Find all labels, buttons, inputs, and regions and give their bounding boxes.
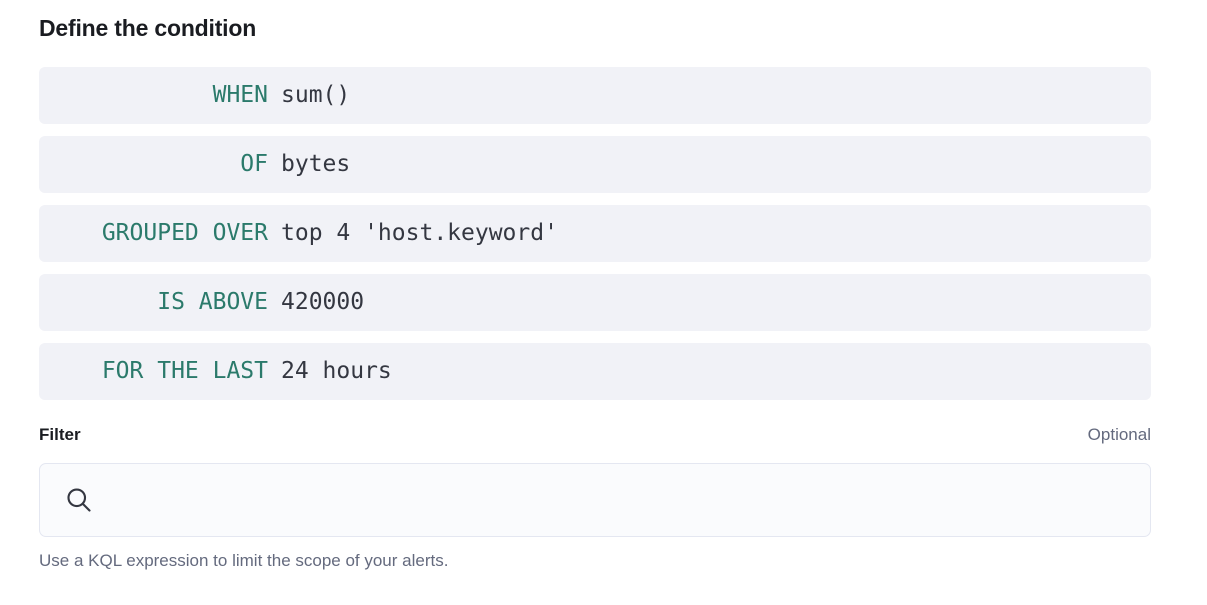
condition-row-is-above[interactable]: IS ABOVE 420000 xyxy=(39,274,1151,331)
filter-help-text: Use a KQL expression to limit the scope … xyxy=(39,549,1151,573)
condition-value-time-window[interactable]: 24 hours xyxy=(268,343,392,400)
condition-keyword: IS ABOVE xyxy=(39,274,268,331)
condition-row-when[interactable]: WHEN sum() xyxy=(39,67,1151,124)
condition-keyword: FOR THE LAST xyxy=(39,343,268,400)
filter-input[interactable] xyxy=(94,480,1136,520)
condition-value-group-by[interactable]: top 4 'host.keyword' xyxy=(268,205,558,262)
condition-value-field[interactable]: bytes xyxy=(268,136,350,193)
condition-value-aggregation[interactable]: sum() xyxy=(268,67,350,124)
filter-input-container[interactable] xyxy=(39,463,1151,537)
condition-keyword: GROUPED OVER xyxy=(39,205,268,262)
condition-row-for-the-last[interactable]: FOR THE LAST 24 hours xyxy=(39,343,1151,400)
filter-label-row: Filter Optional xyxy=(39,424,1151,446)
condition-expression-list: WHEN sum() OF bytes GROUPED OVER top 4 '… xyxy=(39,67,1151,400)
filter-block: Filter Optional Use a KQL expression to … xyxy=(39,424,1151,573)
condition-keyword: WHEN xyxy=(39,67,268,124)
search-icon xyxy=(64,485,94,515)
condition-value-threshold[interactable]: 420000 xyxy=(268,274,364,331)
condition-row-grouped-over[interactable]: GROUPED OVER top 4 'host.keyword' xyxy=(39,205,1151,262)
page-title: Define the condition xyxy=(39,0,1151,43)
filter-label: Filter xyxy=(39,424,81,446)
condition-row-of[interactable]: OF bytes xyxy=(39,136,1151,193)
filter-optional-badge: Optional xyxy=(1088,424,1151,446)
condition-keyword: OF xyxy=(39,136,268,193)
define-condition-panel: Define the condition WHEN sum() OF bytes… xyxy=(39,0,1151,573)
